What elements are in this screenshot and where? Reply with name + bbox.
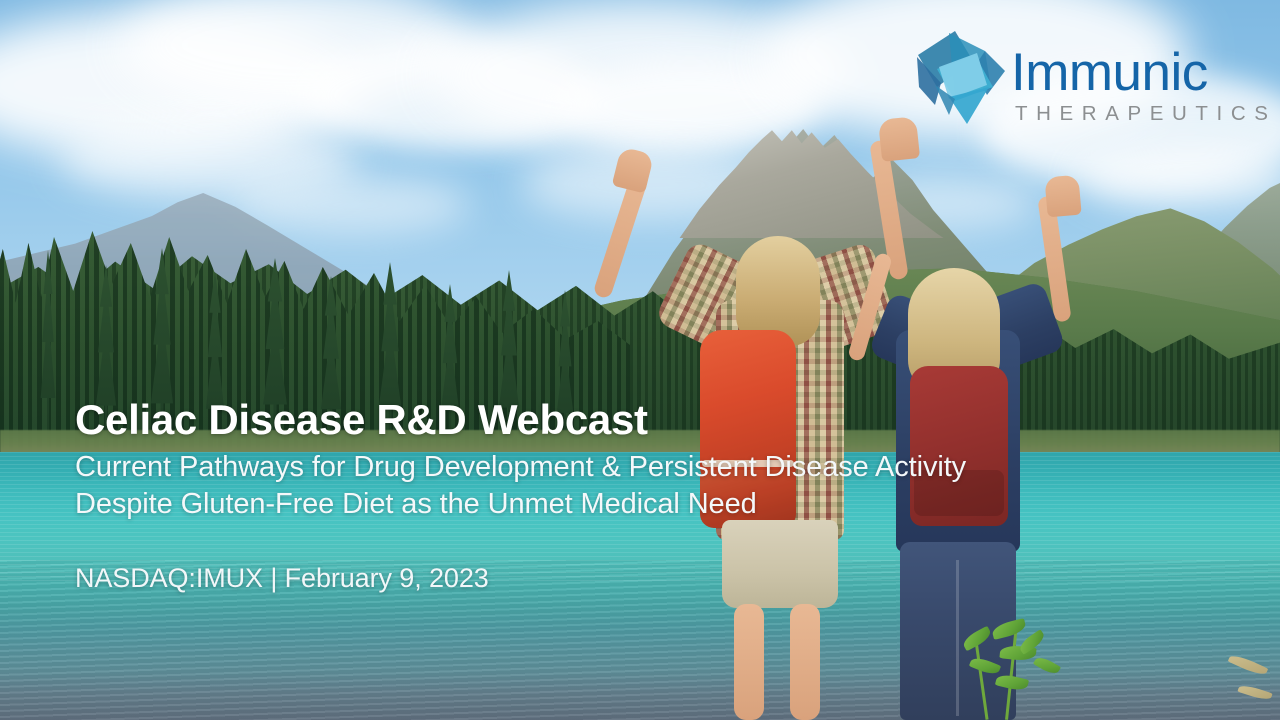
immunic-logo[interactable]: Immunic THERAPEUTICS [915, 22, 1250, 130]
immunic-diamond-mark-icon [915, 25, 1007, 125]
logo-tagline: THERAPEUTICS [1015, 104, 1277, 125]
logo-wordmark: Immunic [1011, 46, 1208, 99]
slide-subtitle-line-2: Despite Gluten-Free Diet as the Unmet Me… [75, 486, 1195, 524]
slide-subtitle-line-1: Current Pathways for Drug Development & … [75, 449, 1195, 487]
title-text-block: Celiac Disease R&D Webcast Current Pathw… [75, 398, 1195, 594]
ticker-and-date: NASDAQ:IMUX | February 9, 2023 [75, 562, 1195, 594]
slide-title: Celiac Disease R&D Webcast [75, 398, 1195, 443]
presentation-slide: Immunic THERAPEUTICS Celiac Disease R&D … [0, 0, 1280, 720]
